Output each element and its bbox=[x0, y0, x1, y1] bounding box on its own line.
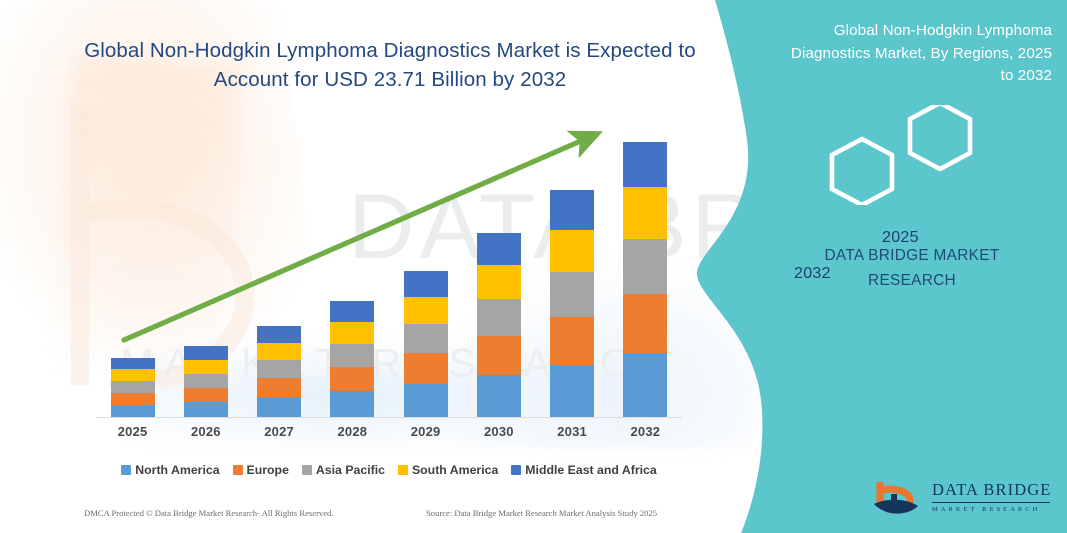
x-axis-label: 2030 bbox=[477, 424, 521, 439]
bar-group bbox=[550, 190, 594, 417]
x-axis-label: 2027 bbox=[257, 424, 301, 439]
hexagon-badges: 2032 2025 bbox=[732, 105, 1052, 205]
bar-segment bbox=[257, 378, 301, 397]
legend-swatch bbox=[233, 465, 243, 475]
footer-copyright: DMCA Protected © Data Bridge Market Rese… bbox=[84, 508, 334, 518]
bar-segment bbox=[404, 297, 448, 324]
bar-segment bbox=[184, 402, 228, 417]
x-axis-label: 2026 bbox=[184, 424, 228, 439]
bar-segment bbox=[111, 393, 155, 405]
bar-segment bbox=[330, 301, 374, 322]
x-axis-label: 2028 bbox=[330, 424, 374, 439]
x-axis-label: 2029 bbox=[404, 424, 448, 439]
bar-segment bbox=[404, 324, 448, 353]
bar-segment bbox=[550, 272, 594, 317]
teal-panel-content: Global Non-Hodgkin Lymphoma Diagnostics … bbox=[687, 0, 1067, 533]
bar-segment bbox=[257, 360, 301, 378]
bar-segment bbox=[330, 322, 374, 344]
legend-label: Europe bbox=[247, 463, 289, 477]
bar-segment bbox=[330, 367, 374, 391]
legend-item[interactable]: South America bbox=[398, 463, 498, 477]
legend-item[interactable]: Middle East and Africa bbox=[511, 463, 656, 477]
panel-title: Global Non-Hodgkin Lymphoma Diagnostics … bbox=[777, 20, 1052, 88]
bar-segment bbox=[257, 326, 301, 343]
bar-segment bbox=[623, 294, 667, 353]
bar-group bbox=[257, 326, 301, 417]
bar-group bbox=[330, 301, 374, 417]
bar-segment bbox=[477, 233, 521, 265]
bar-segment bbox=[550, 230, 594, 272]
legend-swatch bbox=[398, 465, 408, 475]
bar-segment bbox=[330, 391, 374, 417]
chart-bars bbox=[96, 120, 682, 417]
bar-segment bbox=[550, 365, 594, 417]
x-axis-label: 2025 bbox=[111, 424, 155, 439]
footer: DMCA Protected © Data Bridge Market Rese… bbox=[0, 508, 760, 528]
legend-label: Middle East and Africa bbox=[525, 463, 656, 477]
bar-segment bbox=[184, 374, 228, 388]
legend-item[interactable]: Asia Pacific bbox=[302, 463, 385, 477]
bar-segment bbox=[184, 346, 228, 360]
x-axis-label: 2032 bbox=[623, 424, 667, 439]
x-axis-label: 2031 bbox=[550, 424, 594, 439]
bar-segment bbox=[477, 336, 521, 375]
bar-segment bbox=[477, 299, 521, 336]
legend-item[interactable]: Europe bbox=[233, 463, 289, 477]
legend-label: Asia Pacific bbox=[316, 463, 385, 477]
bar-segment bbox=[623, 187, 667, 239]
bar-segment bbox=[111, 381, 155, 393]
bar-segment bbox=[623, 142, 667, 187]
bar-segment bbox=[111, 405, 155, 417]
bar-group bbox=[184, 346, 228, 417]
legend-swatch bbox=[511, 465, 521, 475]
bar-group bbox=[111, 358, 155, 417]
bar-segment bbox=[184, 388, 228, 402]
brand-name: DATA BRIDGE bbox=[932, 480, 1051, 500]
bar-segment bbox=[623, 353, 667, 417]
bar-segment bbox=[404, 353, 448, 384]
bar-group bbox=[623, 142, 667, 417]
panel-company-name: DATA BRIDGE MARKET RESEARCH bbox=[787, 243, 1037, 293]
bar-segment bbox=[330, 344, 374, 367]
bar-group bbox=[404, 271, 448, 417]
bar-segment bbox=[257, 343, 301, 360]
legend-label: North America bbox=[135, 463, 219, 477]
legend-swatch bbox=[121, 465, 131, 475]
chart-x-axis-labels: 20252026202720282029203020312032 bbox=[96, 424, 682, 444]
chart-legend: North AmericaEuropeAsia PacificSouth Ame… bbox=[96, 460, 682, 480]
data-bridge-logo-icon bbox=[872, 478, 928, 520]
bar-segment bbox=[477, 375, 521, 417]
bar-segment bbox=[111, 358, 155, 369]
bar-segment bbox=[404, 271, 448, 297]
legend-swatch bbox=[302, 465, 312, 475]
brand-logo: DATA BRIDGE MARKET RESEARCH bbox=[872, 478, 1052, 522]
hexagon-outlines-icon bbox=[732, 105, 1052, 205]
bar-segment bbox=[550, 317, 594, 365]
infographic-canvas: DATA BRIDGE MARKET RESEARCH Global Non-H… bbox=[0, 0, 1067, 533]
bar-segment bbox=[477, 265, 521, 299]
chart-baseline bbox=[96, 417, 682, 418]
bar-group bbox=[477, 233, 521, 417]
bar-segment bbox=[550, 190, 594, 230]
bar-segment bbox=[257, 397, 301, 417]
footer-source: Source: Data Bridge Market Research Mark… bbox=[426, 508, 657, 518]
stacked-bar-chart bbox=[96, 120, 682, 420]
bar-segment bbox=[623, 239, 667, 294]
bar-segment bbox=[111, 369, 155, 381]
legend-label: South America bbox=[412, 463, 498, 477]
brand-wordmark: DATA BRIDGE MARKET RESEARCH bbox=[932, 480, 1051, 513]
brand-subtitle: MARKET RESEARCH bbox=[932, 506, 1051, 513]
legend-item[interactable]: North America bbox=[121, 463, 219, 477]
page-title: Global Non-Hodgkin Lymphoma Diagnostics … bbox=[60, 36, 720, 94]
bar-segment bbox=[404, 384, 448, 417]
bar-segment bbox=[184, 360, 228, 374]
brand-divider bbox=[932, 502, 1050, 503]
